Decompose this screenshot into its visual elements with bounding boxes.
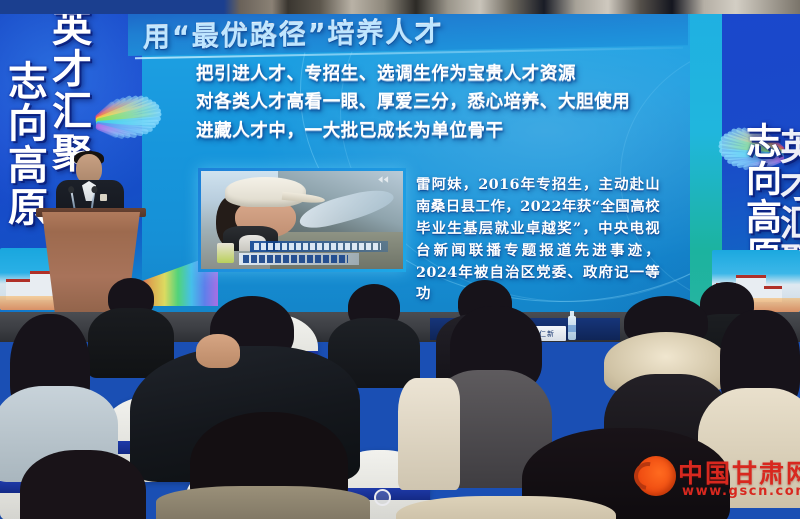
screenshot-root: 英才汇聚 志向高原 志向高原 英才汇聚 用“最优路径”培养人才 把引进人才、专招… (0, 0, 800, 519)
audience-person-body (398, 378, 460, 490)
chyron-station-logo-icon (217, 243, 234, 263)
audience-person-body (396, 496, 616, 519)
news-chyron (217, 241, 399, 267)
chyron-text-lower (243, 255, 348, 263)
headline-line-1: 把引进人才、专招生、选调生作为宝贵人才资源 (196, 60, 686, 88)
banner-left-line1: 英才汇聚 (48, 6, 88, 174)
ceiling-strip (0, 0, 800, 14)
headline-line-3: 进藏人才中，一大批已成长为单位骨干 (196, 117, 686, 145)
broadcaster-logo-icon (376, 175, 398, 184)
audience-person-head (20, 450, 146, 519)
inset-photo (201, 171, 403, 269)
chyron-text-upper (254, 243, 381, 250)
audience-person-body (156, 486, 370, 519)
watermark-url: www.gscn.com.cn (682, 484, 800, 499)
slide-title: 用“最优路径”培养人才 (143, 9, 444, 54)
watermark-logo-icon (636, 456, 676, 496)
inset-photo-frame (198, 168, 406, 272)
slide-headline: 把引进人才、专招生、选调生作为宝贵人才资源 对各类人才高看一眼、厚爱三分，悉心培… (196, 60, 686, 145)
photo-subject-cap (225, 177, 307, 207)
bio-paragraph: 雷阿妹，2016年专招生，主动赴山南桑日县工作，2022年获“全国高校毕业生基层… (416, 174, 660, 305)
speaker-badge (100, 194, 107, 201)
watermark: 中国甘肃网 www.gscn.com.cn (636, 452, 800, 508)
headline-line-2: 对各类人才高看一眼、厚爱三分，悉心培养、大胆使用 (196, 88, 686, 116)
audience-person-hand (196, 334, 240, 368)
